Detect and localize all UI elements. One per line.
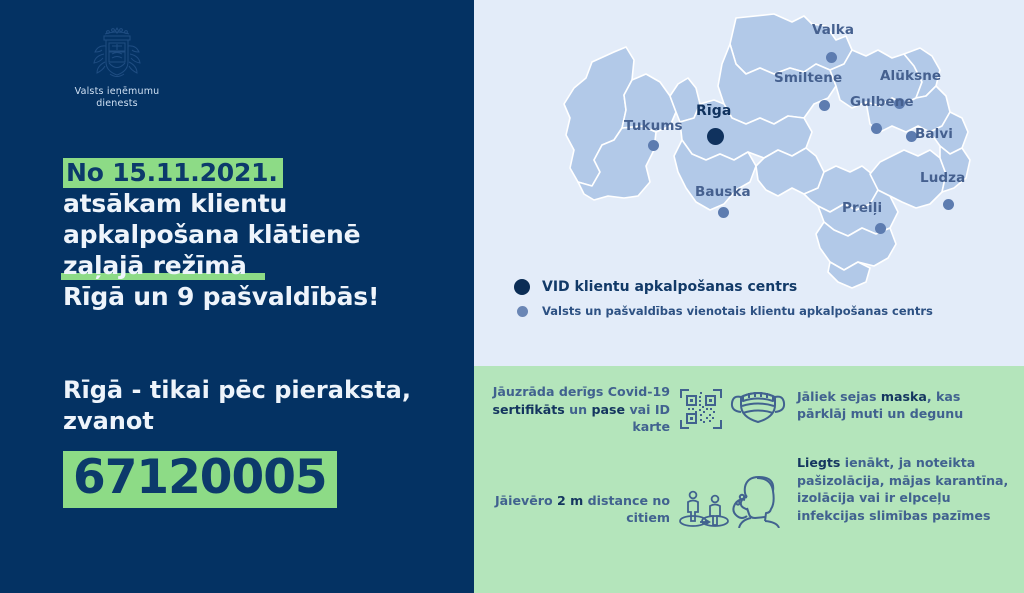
city-dot-gulbene: [871, 123, 882, 134]
infographic-root: Valsts ieņēmumu dienests No 15.11.2021. …: [0, 0, 1024, 593]
callout-line-1: Rīgā - tikai pēc pieraksta,: [63, 375, 463, 406]
headline-line-3: apkalpošana klātienē: [63, 219, 463, 250]
rule-mask: Jāliek sejas maska, kas pārklāj muti un …: [729, 383, 1019, 427]
coughing-person-icon: [729, 472, 787, 528]
latvia-coat-of-arms-icon: [86, 24, 148, 82]
rule-distance: Jāievēro 2 m distance no citiem: [484, 486, 734, 532]
city-dot-bauska: [718, 207, 729, 218]
city-label-bauska: Bauska: [695, 184, 751, 200]
map-panel: Valka Smiltene Alūksne Gulbene Balvi Rīg…: [474, 0, 1024, 366]
city-label-valka: Valka: [812, 22, 854, 38]
legend-label-secondary: Valsts un pašvaldības vienotais klientu …: [542, 304, 933, 318]
legend-dot-secondary-icon: [517, 306, 528, 317]
city-label-tukums: Tukums: [624, 118, 683, 134]
headline-underlined-text: zaļajā režīmā: [63, 250, 247, 281]
headline-line-2: atsākam klientu: [63, 188, 463, 219]
city-dot-ludza: [943, 199, 954, 210]
brand-name: Valsts ieņēmumu dienests: [47, 86, 187, 110]
callout-line-2: zvanot: [63, 406, 463, 437]
rule-certificate: Jāuzrāda derīgs Covid-19 sertifikāts un …: [484, 383, 734, 436]
legend-row-secondary: Valsts un pašvaldības vienotais klientu …: [514, 304, 933, 318]
city-label-aluksne: Alūksne: [880, 68, 941, 84]
rule-certificate-text: Jāuzrāda derīgs Covid-19 sertifikāts un …: [484, 383, 670, 436]
city-label-ludza: Ludza: [920, 170, 965, 186]
headline-date-highlight: No 15.11.2021.: [63, 158, 283, 188]
legend-dot-primary-icon: [514, 279, 530, 295]
latvia-map: [474, 0, 1024, 300]
rules-panel: Jāuzrāda derīgs Covid-19 sertifikāts un …: [474, 366, 1024, 593]
city-label-smiltene: Smiltene: [774, 70, 842, 86]
headline-block: No 15.11.2021. atsākam klientu apkalpoša…: [63, 157, 463, 312]
city-label-balvi: Balvi: [915, 126, 953, 142]
headline-date-line: No 15.11.2021.: [63, 157, 463, 188]
two-people-distance-icon: [678, 486, 730, 532]
city-label-gulbene: Gulbene: [850, 94, 914, 110]
headline-line-4: zaļajā režīmā: [63, 250, 463, 281]
legend-label-primary: VID klientu apkalpošanas centrs: [542, 279, 797, 295]
face-mask-icon: [729, 383, 787, 427]
qr-code-icon: [678, 386, 724, 432]
headline-line-5: Rīgā un 9 pašvaldībās!: [63, 281, 463, 312]
rule-distance-text: Jāievēro 2 m distance no citiem: [484, 492, 670, 527]
map-legend: VID klientu apkalpošanas centrs Valsts u…: [514, 279, 933, 327]
brand-block: Valsts ieņēmumu dienests: [47, 24, 187, 110]
city-dot-preili: [875, 223, 886, 234]
city-label-preili: Preiļi: [842, 200, 882, 216]
rule-isolation: Liegts ienākt, ja noteikta pašizolācija,…: [729, 454, 1019, 528]
rule-isolation-text: Liegts ienākt, ja noteikta pašizolācija,…: [797, 454, 1012, 524]
legend-row-primary: VID klientu apkalpošanas centrs: [514, 279, 933, 295]
left-panel: Valsts ieņēmumu dienests No 15.11.2021. …: [0, 0, 474, 593]
rule-mask-text: Jāliek sejas maska, kas pārklāj muti un …: [797, 388, 1012, 423]
city-dot-tukums: [648, 140, 659, 151]
city-dot-smiltene: [819, 100, 830, 111]
phone-number[interactable]: 67120005: [63, 451, 337, 508]
city-dot-valka: [826, 52, 837, 63]
callout-block: Rīgā - tikai pēc pieraksta, zvanot 67120…: [63, 375, 463, 508]
city-label-riga: Rīga: [696, 103, 731, 119]
city-dot-riga: [707, 128, 724, 145]
